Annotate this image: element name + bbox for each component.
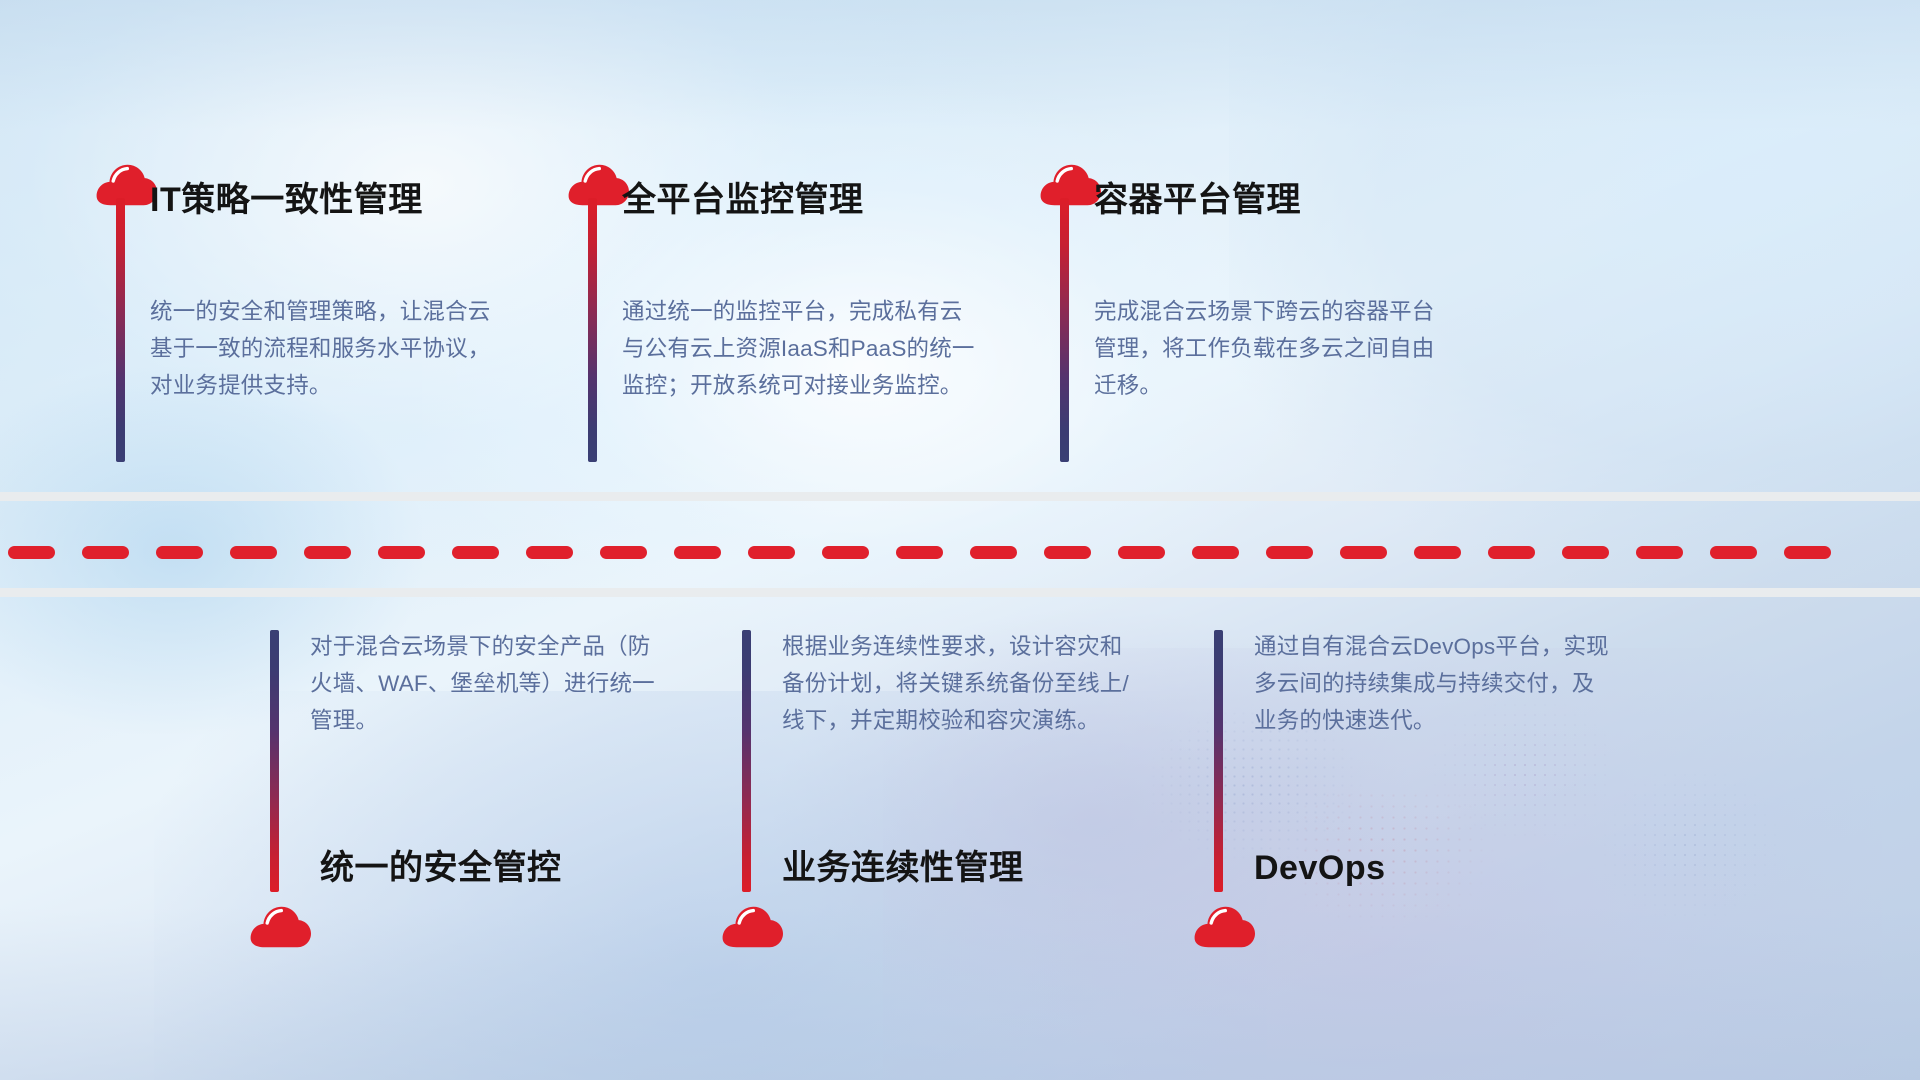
feature-title: IT策略一致性管理 <box>150 180 423 220</box>
dash-segment <box>1340 546 1387 559</box>
feature-description: 根据业务连续性要求，设计容灾和备份计划，将关键系统备份至线上/线下，并定期校验和… <box>782 628 1142 739</box>
dash-segment <box>378 546 425 559</box>
connector-line <box>742 630 751 892</box>
connector-line <box>588 198 597 462</box>
connector-line <box>116 198 125 462</box>
dash-segment <box>1784 546 1831 559</box>
dash-segment <box>1414 546 1461 559</box>
cloud-icon <box>96 160 158 206</box>
cloud-icon <box>568 160 630 206</box>
dash-segment <box>674 546 721 559</box>
feature-title: 容器平台管理 <box>1094 180 1301 220</box>
dash-segment <box>526 546 573 559</box>
dash-segment <box>1044 546 1091 559</box>
dash-segment <box>896 546 943 559</box>
feature-description: 通过统一的监控平台，完成私有云与公有云上资源IaaS和PaaS的统一监控；开放系… <box>622 293 984 404</box>
feature-description: 通过自有混合云DevOps平台，实现多云间的持续集成与持续交付，及业务的快速迭代… <box>1254 628 1614 739</box>
dash-segment <box>1636 546 1683 559</box>
divider-band-top <box>0 492 1920 501</box>
dash-segment <box>156 546 203 559</box>
divider-band-bottom <box>0 588 1920 597</box>
dash-segment <box>452 546 499 559</box>
dash-segment <box>1710 546 1757 559</box>
dash-segment <box>1192 546 1239 559</box>
dash-segment <box>230 546 277 559</box>
feature-title: DevOps <box>1254 848 1386 888</box>
dash-segment <box>600 546 647 559</box>
feature-title: 统一的安全管控 <box>320 848 562 888</box>
feature-title: 业务连续性管理 <box>782 848 1024 888</box>
dash-segment <box>748 546 795 559</box>
cloud-icon <box>1194 902 1256 948</box>
feature-description: 统一的安全和管理策略，让混合云基于一致的流程和服务水平协议，对业务提供支持。 <box>150 293 510 404</box>
feature-description: 完成混合云场景下跨云的容器平台管理，将工作负载在多云之间自由迁移。 <box>1094 293 1454 404</box>
dash-segment <box>970 546 1017 559</box>
dash-segment <box>82 546 129 559</box>
dash-segment <box>1118 546 1165 559</box>
dash-segment <box>1562 546 1609 559</box>
infographic-canvas: IT策略一致性管理 统一的安全和管理策略，让混合云基于一致的流程和服务水平协议，… <box>0 0 1920 1080</box>
connector-line <box>1214 630 1223 892</box>
feature-title: 全平台监控管理 <box>622 180 864 220</box>
cloud-icon <box>250 902 312 948</box>
dashed-separator-line <box>0 546 1920 559</box>
dash-segment <box>8 546 55 559</box>
dash-segment <box>822 546 869 559</box>
cloud-icon <box>1040 160 1102 206</box>
feature-description: 对于混合云场景下的安全产品（防火墙、WAF、堡垒机等）进行统一管理。 <box>310 628 670 739</box>
dash-segment <box>304 546 351 559</box>
cloud-icon <box>722 902 784 948</box>
dash-segment <box>1488 546 1535 559</box>
connector-line <box>1060 198 1069 462</box>
dash-segment <box>1266 546 1313 559</box>
connector-line <box>270 630 279 892</box>
